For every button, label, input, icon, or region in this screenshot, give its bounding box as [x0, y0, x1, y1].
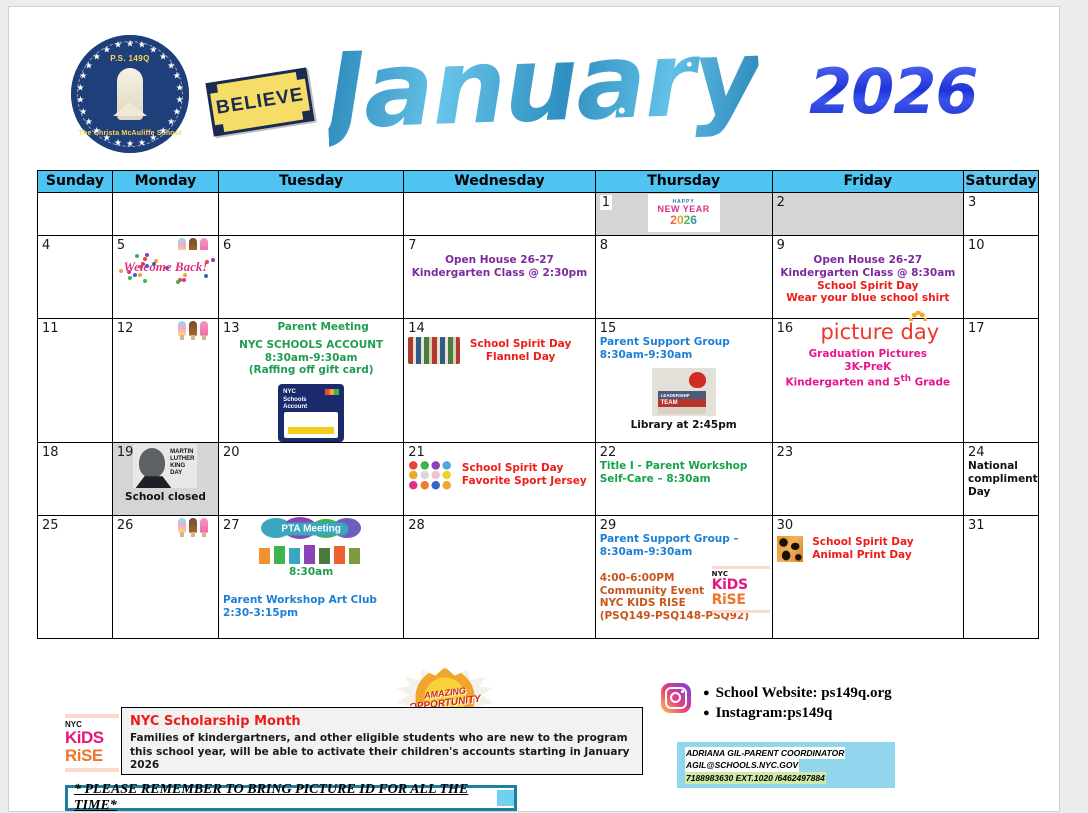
- event-line: Parent Support Group –: [600, 533, 768, 546]
- confetti-dot: [135, 254, 139, 258]
- event-line: (Raffing off gift card): [223, 364, 399, 377]
- confetti-dot: [182, 278, 186, 282]
- picture-day-text: picture day: [820, 320, 939, 344]
- event-line: School Spirit Day: [777, 280, 959, 293]
- calendar-cell-27[interactable]: 27 PTA Meeting 8:30am Parent Workshop Ar…: [219, 516, 404, 639]
- day-number: 14: [408, 321, 425, 336]
- nyc-kids-rise-logo: NYC KiDS RiSE: [65, 714, 119, 772]
- day-number: 13: [223, 321, 240, 336]
- calendar-cell-9[interactable]: 9 Open House 26-27 Kindergarten Class @ …: [772, 236, 963, 319]
- instagram-text: Instagram:ps149q: [716, 705, 833, 721]
- pta-meeting-label: PTA Meeting: [274, 523, 347, 536]
- parent-coordinator-contact-box: ADRIANA GIL-PARENT COORDINATOR AGIL@SCHO…: [677, 742, 895, 788]
- calendar-cell-21[interactable]: 21 School Spirit Day Favorite Sport Jers…: [404, 443, 595, 516]
- event-line: Kindergarten Class @ 2:30pm: [408, 267, 590, 280]
- event-line: Parent Support Group: [600, 336, 768, 349]
- calendar-week-row: 11 12 13 Parent Meeting NYC SCHOOLS ACCO…: [38, 319, 1039, 443]
- new-year-line-3: 2026: [670, 214, 697, 226]
- event-list-cont: 4:00-6:00PM Community Event NYC KIDS RIS…: [596, 570, 772, 626]
- day-number: 25: [42, 518, 59, 533]
- ice-cream-trio-icon: [175, 518, 208, 535]
- weekday-header-tuesday: Tuesday: [219, 171, 404, 193]
- calendar-week-row: 1 HAPPY NEW YEAR 2026 2 3: [38, 193, 1039, 236]
- contact-name: ADRIANA GIL-PARENT COORDINATOR: [685, 747, 845, 759]
- calendar-cell-13[interactable]: 13 Parent Meeting NYC SCHOOLS ACCOUNT 8:…: [219, 319, 404, 443]
- nycsa-text: NYC Schools Account: [283, 389, 307, 412]
- event-footer-line: Library at 2:45pm: [596, 417, 772, 435]
- calendar-cell-14[interactable]: 14 School Spirit Day Flannel Day: [404, 319, 595, 443]
- mlk-day-icon: MARTIN LUTHER KING DAY: [133, 444, 197, 488]
- calendar-cell-19[interactable]: 19 MARTIN LUTHER KING DAY School closed: [112, 443, 218, 516]
- event-line: Graduation Pictures: [777, 348, 959, 361]
- welcome-back-banner: Welcome Back!: [113, 250, 217, 284]
- day-number: 5: [117, 238, 125, 253]
- event-list: Parent Support Group – 8:30am-9:30am: [596, 531, 772, 562]
- day-number: 1: [600, 195, 612, 210]
- confetti-dot: [133, 273, 137, 277]
- confetti-dot: [143, 279, 147, 283]
- event-list: Graduation Pictures 3K-PreK Kindergarten…: [773, 346, 963, 392]
- scholarship-notice-box: NYC Scholarship Month Families of kinder…: [121, 707, 643, 775]
- event-list: Parent Support Group 8:30am-9:30am: [596, 334, 772, 365]
- event-list-cont: Parent Workshop Art Club 2:30-3:15pm: [219, 592, 403, 623]
- nycsa-flag-icon: [325, 389, 339, 395]
- weekday-header-saturday: Saturday: [964, 171, 1039, 193]
- event-list: National compliment Day: [964, 458, 1038, 501]
- confetti-dot: [143, 257, 147, 261]
- nyc-kids-rise-icon: NYC KiDS RiSE: [712, 566, 770, 613]
- day-number: 20: [223, 445, 240, 460]
- day-number: 7: [408, 238, 416, 253]
- apple-icon: [689, 372, 706, 388]
- confetti-dot: [176, 280, 180, 284]
- day-number: 4: [42, 238, 50, 253]
- day-number: 11: [42, 321, 59, 336]
- day-number: 21: [408, 445, 425, 460]
- calendar-cell-28[interactable]: 28: [404, 516, 595, 639]
- confetti-dot: [145, 264, 149, 268]
- event-list: School Spirit Day Flannel Day: [404, 335, 594, 367]
- event-line: School Spirit Day: [812, 536, 913, 549]
- kids-rise-line-2: KiDS: [712, 578, 770, 593]
- calendar-cell-empty: [404, 193, 595, 236]
- event-line: Animal Print Day: [812, 549, 913, 562]
- weekday-header-wednesday: Wednesday: [404, 171, 595, 193]
- event-line: Self-Care – 8:30am: [600, 473, 768, 486]
- contact-phone: 7188983630 EXT.1020 /6462497884: [685, 772, 826, 784]
- happy-new-year-icon: HAPPY NEW YEAR 2026: [648, 194, 720, 232]
- event-list: Open House 26-27 Kindergarten Class @ 8:…: [773, 252, 963, 308]
- calendar-cell-18[interactable]: 18: [38, 443, 113, 516]
- calendar-cell-4[interactable]: 4: [38, 236, 113, 319]
- calendar-cell-17[interactable]: 17: [964, 319, 1039, 443]
- event-line: Title I - Parent Workshop: [600, 460, 768, 473]
- calendar-header-row: Sunday Monday Tuesday Wednesday Thursday…: [38, 171, 1039, 193]
- calendar-cell-16[interactable]: 16 picture day Graduation Pictures 3K-Pr…: [772, 319, 963, 443]
- day-number: 30: [777, 518, 794, 533]
- calendar-cell-6[interactable]: 6: [219, 236, 404, 319]
- calendar-cell-empty: [112, 193, 218, 236]
- grade-text-prefix: Kindergarten and 5: [785, 376, 900, 388]
- highlight-swatch: [497, 790, 514, 806]
- page-header: P.S. 149Q The Christa McAuliffe School ★…: [9, 7, 1059, 162]
- calendar-cell-22[interactable]: 22 Title I - Parent Workshop Self-Care –…: [595, 443, 772, 516]
- calendar-cell-24[interactable]: 24 National compliment Day: [964, 443, 1039, 516]
- event-line: Kindergarten and 5th Grade: [777, 374, 959, 389]
- weekday-header-monday: Monday: [112, 171, 218, 193]
- bullet-icon: ●: [703, 707, 710, 719]
- event-line: 8:30am: [223, 566, 399, 579]
- event-list: School Spirit Day Animal Print Day: [773, 534, 963, 565]
- confetti-dot: [128, 276, 132, 280]
- confetti-dot: [204, 274, 208, 278]
- calendar-table: Sunday Monday Tuesday Wednesday Thursday…: [37, 170, 1039, 639]
- mlk-text: MARTIN LUTHER KING DAY: [170, 449, 194, 477]
- logo-stars: ★★★★★★★★★★★★★★★★★★★★★★★★★★: [71, 35, 189, 153]
- calendar-page: P.S. 149Q The Christa McAuliffe School ★…: [8, 6, 1060, 812]
- event-line: 8:30am-9:30am: [600, 546, 768, 559]
- kids-rise-line-3: RiSE: [712, 593, 770, 608]
- day-number: 8: [600, 238, 608, 253]
- event-line: 3K-PreK: [777, 361, 959, 374]
- event-list: Title I - Parent Workshop Self-Care – 8:…: [596, 458, 772, 489]
- confetti-dot: [205, 260, 209, 264]
- contact-email[interactable]: AGIL@SCHOOLS.NYC.GOV: [685, 759, 799, 771]
- flannel-shirts-icon: [408, 337, 460, 364]
- calendar-cell-31[interactable]: 31: [964, 516, 1039, 639]
- animal-print-icon: [777, 536, 803, 562]
- day-number: 27: [223, 518, 240, 533]
- calendar-cell-7[interactable]: 7 Open House 26-27 Kindergarten Class @ …: [404, 236, 595, 319]
- calendar-cell-30[interactable]: 30 School Spirit Day Animal Print Day: [772, 516, 963, 639]
- jersey-grid-icon: [408, 460, 452, 490]
- day-number: 23: [777, 445, 794, 460]
- bullet-icon: ●: [703, 687, 710, 699]
- calendar-cell-26[interactable]: 26: [112, 516, 218, 639]
- event-list-cont: NYC SCHOOLS ACCOUNT 8:30am-9:30am (Raffi…: [219, 337, 403, 380]
- event-list: Parent Meeting: [219, 319, 403, 337]
- event-line: Open House 26-27: [408, 254, 590, 267]
- day-number: 19: [117, 445, 134, 460]
- event-line: Favorite Sport Jersey: [462, 475, 587, 488]
- event-line: School Spirit Day: [462, 462, 587, 475]
- day-number: 26: [117, 518, 134, 533]
- confetti-dot: [138, 273, 142, 277]
- slt-line-2: TEAM: [661, 400, 678, 406]
- link-item-instagram[interactable]: ●Instagram:ps149q: [703, 703, 892, 723]
- day-number: 29: [600, 518, 617, 533]
- event-line: School Spirit Day: [470, 338, 571, 351]
- nyc-schools-account-icon: NYC Schools Account: [278, 384, 344, 442]
- calendar-cell-23[interactable]: 23: [772, 443, 963, 516]
- kids-rise-line-3: RiSE: [65, 747, 119, 765]
- event-list: Open House 26-27 Kindergarten Class @ 2:…: [404, 252, 594, 283]
- event-line: National: [968, 460, 1034, 473]
- calendar-cell-29[interactable]: 29 Parent Support Group – 8:30am-9:30am …: [595, 516, 772, 639]
- calendar-cell-25[interactable]: 25: [38, 516, 113, 639]
- event-footer-line: School closed: [113, 489, 218, 507]
- day-number: 6: [223, 238, 231, 253]
- instagram-icon[interactable]: [661, 683, 691, 713]
- day-number: 16: [777, 321, 794, 336]
- calendar-cell-3[interactable]: 3: [964, 193, 1039, 236]
- calendar-cell-20[interactable]: 20: [219, 443, 404, 516]
- event-line: Kindergarten Class @ 8:30am: [777, 267, 959, 280]
- day-number: 18: [42, 445, 59, 460]
- event-line: compliment Day: [968, 473, 1034, 499]
- day-number: 9: [777, 238, 785, 253]
- event-line: NYC SCHOOLS ACCOUNT: [223, 339, 399, 352]
- day-number: 28: [408, 518, 425, 533]
- event-list: 8:30am: [219, 564, 403, 582]
- event-line: 8:30am-9:30am: [600, 349, 768, 362]
- event-line: Parent Meeting: [247, 321, 399, 334]
- picture-day-logo: picture day: [773, 320, 963, 344]
- event-line: 8:30am-9:30am: [223, 352, 399, 365]
- link-item-website[interactable]: ●School Website: ps149q.org: [703, 683, 892, 703]
- day-number: 22: [600, 445, 617, 460]
- ordinal-suffix: th: [901, 374, 911, 384]
- slt-line-1: LEADERSHIP: [661, 393, 690, 398]
- weekday-header-friday: Friday: [772, 171, 963, 193]
- calendar-cell-15[interactable]: 15 Parent Support Group 8:30am-9:30am LE…: [595, 319, 772, 443]
- weekday-header-sunday: Sunday: [38, 171, 113, 193]
- calendar-cell-10[interactable]: 10: [964, 236, 1039, 319]
- calendar-week-row: 18 19 MARTIN LUTHER KING DAY School clos…: [38, 443, 1039, 516]
- ice-cream-trio-icon: [175, 321, 208, 338]
- school-links-list: ●School Website: ps149q.org ●Instagram:p…: [703, 683, 892, 724]
- kids-rise-line-2: KiDS: [65, 729, 119, 747]
- calendar-week-row: 4 5 Welcome Back! 6 7 Op: [38, 236, 1039, 319]
- scholarship-body: Families of kindergartners, and other el…: [130, 732, 634, 773]
- scholarship-title: NYC Scholarship Month: [130, 714, 634, 729]
- weekday-header-thursday: Thursday: [595, 171, 772, 193]
- calendar-cell-1[interactable]: 1 HAPPY NEW YEAR 2026: [595, 193, 772, 236]
- calendar-cell-empty: [38, 193, 113, 236]
- believe-sign-text: BELIEVE: [209, 71, 311, 133]
- calendar-cell-8[interactable]: 8: [595, 236, 772, 319]
- calendar-week-row: 25 26 27 PTA Meeting: [38, 516, 1039, 639]
- day-number: 17: [968, 321, 985, 336]
- sunburst-icon: [909, 311, 927, 321]
- website-text: School Website: ps149q.org: [716, 685, 892, 701]
- event-line: Open House 26-27: [777, 254, 959, 267]
- school-leadership-team-icon: LEADERSHIP TEAM: [652, 368, 716, 416]
- event-line: Flannel Day: [470, 351, 571, 364]
- day-number: 2: [777, 195, 785, 210]
- believe-sign: BELIEVE: [205, 67, 314, 136]
- pta-meeting-icon: PTA Meeting: [257, 517, 365, 541]
- calendar-cell-2[interactable]: 2: [772, 193, 963, 236]
- calendar-cell-11[interactable]: 11: [38, 319, 113, 443]
- day-number: 12: [117, 321, 134, 336]
- confetti-dot: [183, 273, 187, 277]
- event-line: 2:30-3:15pm: [223, 607, 399, 620]
- event-line: Wear your blue school shirt: [777, 292, 959, 305]
- day-number: 24: [968, 445, 985, 460]
- confetti-dot: [145, 253, 149, 257]
- event-list: School Spirit Day Favorite Sport Jersey: [404, 458, 594, 493]
- page-footer: AMAZING OPPORTUNITY NYC KiDS RiSE NYC Sc…: [9, 667, 1059, 812]
- day-number: 31: [968, 518, 985, 533]
- people-group-icon: [257, 542, 365, 564]
- month-title: January: [325, 15, 761, 152]
- calendar-cell-empty: [219, 193, 404, 236]
- day-number: 3: [968, 195, 976, 210]
- day-number: 10: [968, 238, 985, 253]
- school-logo: P.S. 149Q The Christa McAuliffe School ★…: [71, 35, 189, 153]
- calendar-cell-5[interactable]: 5 Welcome Back!: [112, 236, 218, 319]
- event-line: Parent Workshop Art Club: [223, 594, 399, 607]
- picture-id-notice-box: * PLEASE REMEMBER TO BRING PICTURE ID FO…: [65, 785, 517, 811]
- day-number: 15: [600, 321, 617, 336]
- confetti-dot: [211, 258, 215, 262]
- calendar-cell-12[interactable]: 12: [112, 319, 218, 443]
- picture-id-notice-text: * PLEASE REMEMBER TO BRING PICTURE ID FO…: [68, 782, 495, 812]
- nycsa-screen: [284, 412, 338, 438]
- grade-text-suffix: Grade: [911, 376, 950, 388]
- year-title: 2026: [809, 55, 978, 128]
